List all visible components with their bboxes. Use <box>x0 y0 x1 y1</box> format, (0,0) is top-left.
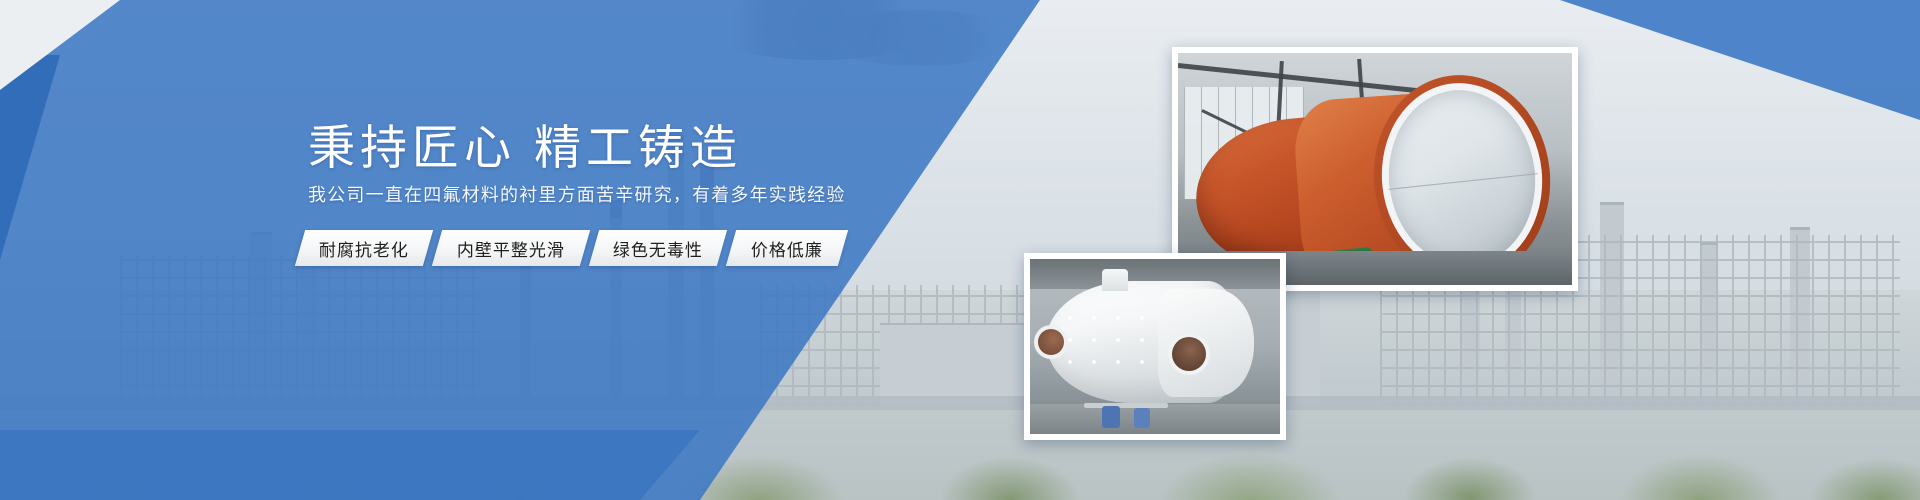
feature-tag-smooth-inner-wall[interactable]: 内壁平整光滑 <box>432 230 590 266</box>
tank-rear-section <box>1158 289 1254 397</box>
hero-banner: 秉持匠心 精工铸造 我公司一直在四氟材料的衬里方面苦辛研究，有着多年实践经验 耐… <box>0 0 1920 500</box>
tank-skid <box>1084 403 1168 408</box>
tank-manway-neck <box>1102 269 1128 291</box>
white-lined-tank-photo <box>1024 253 1286 440</box>
blue-support-block <box>1134 408 1150 428</box>
banner-copy: 秉持匠心 精工铸造 我公司一直在四氟材料的衬里方面苦辛研究，有着多年实践经验 耐… <box>0 0 900 500</box>
tank-nozzle <box>1172 337 1206 371</box>
banner-subtitle: 我公司一直在四氟材料的衬里方面苦辛研究，有着多年实践经验 <box>308 186 846 204</box>
banner-headline: 秉持匠心 精工铸造 <box>308 124 742 171</box>
tank-nozzle <box>1038 329 1064 355</box>
yard-ground <box>1030 404 1280 434</box>
feature-tag-corrosion-resistant[interactable]: 耐腐抗老化 <box>295 230 433 266</box>
feature-tag-label: 价格低廉 <box>733 236 841 261</box>
feature-tag-label: 内壁平整光滑 <box>439 236 583 261</box>
photo-inner <box>1030 259 1280 434</box>
feature-tag-label: 耐腐抗老化 <box>301 236 427 261</box>
blue-support-block <box>1102 406 1120 428</box>
feature-tag-low-price[interactable]: 价格低廉 <box>726 230 848 266</box>
feature-tag-list: 耐腐抗老化 内壁平整光滑 绿色无毒性 价格低廉 <box>300 230 852 266</box>
tank-stud-pattern <box>1058 307 1154 379</box>
feature-tag-non-toxic[interactable]: 绿色无毒性 <box>589 230 727 266</box>
photo-inner <box>1178 53 1572 285</box>
feature-tag-label: 绿色无毒性 <box>595 236 721 261</box>
